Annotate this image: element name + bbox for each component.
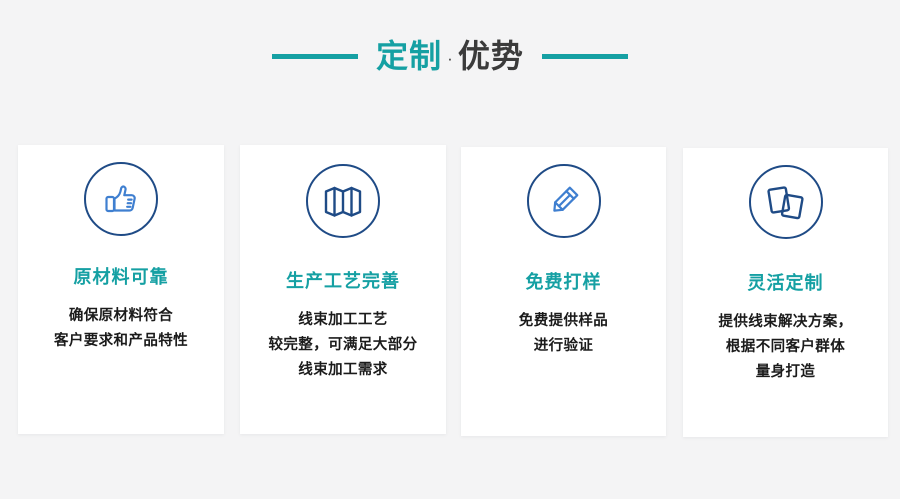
body-line: 线束加工需求 bbox=[250, 358, 436, 383]
body-line: 根据不同客户群体 bbox=[693, 335, 878, 360]
body-line: 确保原材料符合 bbox=[28, 304, 214, 329]
body-line: 进行验证 bbox=[471, 334, 656, 359]
body-line: 免费提供样品 bbox=[471, 309, 656, 334]
folded-map-icon bbox=[306, 164, 380, 238]
advantage-card-title: 灵活定制 bbox=[683, 274, 888, 292]
advantage-card-title: 免费打样 bbox=[461, 273, 666, 291]
body-line: 较完整，可满足大部分 bbox=[250, 333, 436, 358]
title-separator: · bbox=[447, 50, 453, 67]
body-line: 提供线束解决方案， bbox=[693, 310, 878, 335]
page-title: 定制 · 优势 bbox=[376, 40, 524, 72]
heading-rule-left bbox=[272, 54, 358, 59]
pencil-icon bbox=[527, 164, 601, 238]
thumbs-up-icon bbox=[84, 162, 158, 236]
advantage-card-list: 原材料可靠 确保原材料符合 客户要求和产品特性 生产工艺完善 线束加工工艺 较完… bbox=[18, 145, 888, 445]
body-line: 线束加工工艺 bbox=[250, 308, 436, 333]
title-main: 定制 bbox=[376, 40, 442, 72]
advantage-card-body: 确保原材料符合 客户要求和产品特性 bbox=[18, 304, 224, 354]
advantage-card[interactable]: 灵活定制 提供线束解决方案， 根据不同客户群体 量身打造 bbox=[683, 148, 888, 437]
section-heading: 定制 · 优势 bbox=[0, 28, 900, 84]
advantage-card[interactable]: 生产工艺完善 线束加工工艺 较完整，可满足大部分 线束加工需求 bbox=[240, 145, 446, 434]
stacked-cards-icon bbox=[749, 165, 823, 239]
body-line: 量身打造 bbox=[693, 360, 878, 385]
advantage-card-title: 生产工艺完善 bbox=[240, 272, 446, 290]
title-sub: 优势 bbox=[458, 40, 524, 72]
advantage-card-body: 线束加工工艺 较完整，可满足大部分 线束加工需求 bbox=[240, 308, 446, 383]
customization-advantages-section: 定制 · 优势 原材料可靠 确保原材料符合 客户要求和产品特性 bbox=[0, 0, 900, 499]
advantage-card[interactable]: 免费打样 免费提供样品 进行验证 bbox=[461, 147, 666, 436]
advantage-card-body: 提供线束解决方案， 根据不同客户群体 量身打造 bbox=[683, 310, 888, 385]
advantage-card-title: 原材料可靠 bbox=[18, 268, 224, 286]
heading-rule-right bbox=[542, 54, 628, 59]
advantage-card[interactable]: 原材料可靠 确保原材料符合 客户要求和产品特性 bbox=[18, 145, 224, 434]
advantage-card-body: 免费提供样品 进行验证 bbox=[461, 309, 666, 359]
body-line: 客户要求和产品特性 bbox=[28, 329, 214, 354]
